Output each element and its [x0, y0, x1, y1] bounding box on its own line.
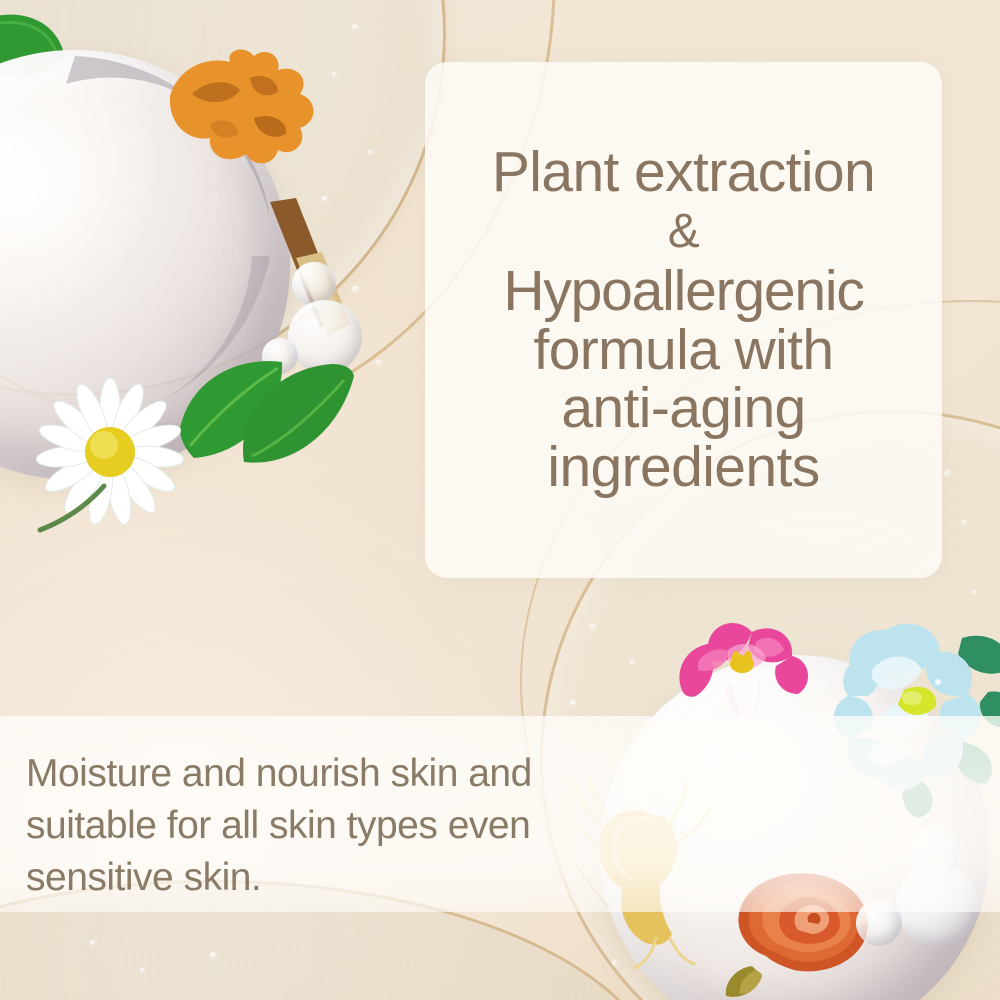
- banner-stage: Plant extraction & Hypoallergenic formul…: [0, 0, 1000, 1000]
- water-bubble-icon: [262, 338, 298, 374]
- water-droplet-icon: [972, 590, 977, 595]
- water-droplet-icon: [322, 196, 328, 202]
- water-droplet-icon: [210, 952, 217, 959]
- water-droplet-icon: [332, 72, 337, 77]
- water-droplet-icon: [140, 968, 145, 973]
- water-droplet-icon: [570, 700, 577, 707]
- water-droplet-icon: [630, 660, 635, 665]
- water-droplet-icon: [90, 940, 96, 946]
- water-droplet-icon: [944, 470, 951, 477]
- daisy-flower-icon: [30, 378, 190, 538]
- headline-panel: Plant extraction & Hypoallergenic formul…: [425, 62, 942, 578]
- water-droplet-icon: [376, 360, 382, 366]
- water-droplet-icon: [352, 286, 359, 293]
- headline-line-4: formula with: [533, 321, 833, 380]
- headline-line-1: Plant extraction: [492, 143, 875, 202]
- water-droplet-icon: [352, 24, 359, 31]
- water-droplet-icon: [300, 120, 308, 128]
- water-droplet-icon: [368, 150, 373, 155]
- water-droplet-icon: [612, 960, 618, 966]
- water-droplet-icon: [262, 62, 267, 67]
- water-droplet-icon: [590, 624, 596, 630]
- water-droplet-icon: [962, 520, 967, 525]
- caption-text: Moisture and nourish skin and suitable f…: [26, 748, 626, 904]
- headline-line-5: anti-aging: [561, 379, 805, 438]
- headline-line-2: &: [668, 202, 699, 262]
- water-bubble-icon: [288, 300, 362, 374]
- headline-line-6: ingredients: [547, 438, 819, 497]
- headline-line-3: Hypoallergenic: [503, 262, 863, 321]
